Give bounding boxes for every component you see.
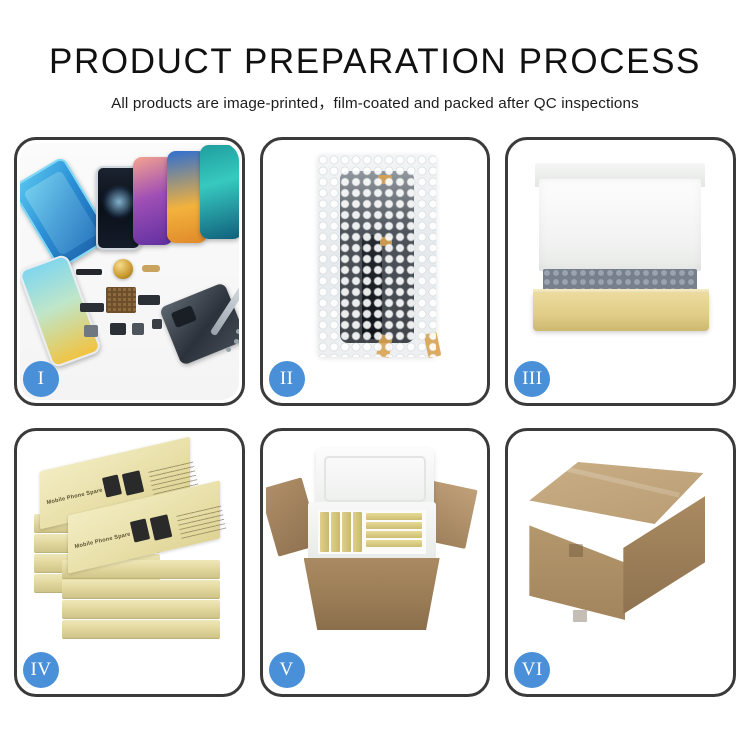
spare-part bbox=[132, 323, 144, 335]
spare-part bbox=[142, 265, 160, 272]
foam-cavity bbox=[318, 510, 426, 554]
step-badge-1: I bbox=[23, 361, 59, 397]
box-layer bbox=[62, 600, 220, 619]
step-badge-4: IV bbox=[23, 652, 59, 688]
screw bbox=[236, 329, 239, 334]
step-4-photo: Mobile Phone Spare Parts Mobile Phone Sp… bbox=[20, 434, 239, 691]
spare-part bbox=[110, 323, 126, 335]
step-card-3[interactable]: III bbox=[505, 137, 736, 406]
spare-part bbox=[84, 325, 98, 337]
step-1-photo bbox=[20, 143, 239, 400]
foam-lid bbox=[316, 448, 434, 510]
product-preparation-infographic: PRODUCT PREPARATION PROCESS All products… bbox=[0, 0, 750, 750]
spare-part bbox=[80, 303, 104, 312]
packed-box bbox=[342, 512, 351, 552]
step-card-5[interactable]: V bbox=[260, 428, 491, 697]
packed-box bbox=[366, 531, 422, 538]
spare-part bbox=[152, 319, 162, 329]
step-card-1[interactable]: I bbox=[14, 137, 245, 406]
page-title: PRODUCT PREPARATION PROCESS bbox=[0, 42, 750, 82]
chip-grid-part bbox=[106, 287, 136, 313]
packed-box bbox=[366, 540, 422, 547]
phone-back-housing bbox=[159, 282, 239, 366]
step-badge-2: II bbox=[269, 361, 305, 397]
packed-box bbox=[320, 512, 329, 552]
carton-tab bbox=[569, 544, 583, 557]
step-badge-5: V bbox=[269, 652, 305, 688]
screw bbox=[226, 347, 231, 352]
step-6-photo bbox=[511, 434, 730, 691]
bubble-wrap-bag bbox=[318, 155, 436, 357]
kraft-box-front bbox=[533, 293, 709, 331]
packed-box bbox=[366, 513, 422, 520]
carton-body bbox=[304, 558, 440, 630]
screw bbox=[234, 339, 239, 344]
carton-tab bbox=[573, 610, 587, 622]
spare-part bbox=[138, 295, 160, 305]
packed-box bbox=[353, 512, 362, 552]
header: PRODUCT PREPARATION PROCESS All products… bbox=[0, 0, 750, 113]
step-card-6[interactable]: VI bbox=[505, 428, 736, 697]
copper-coil-part bbox=[113, 259, 133, 279]
bubble-texture bbox=[318, 155, 436, 357]
phone-teal bbox=[200, 145, 239, 239]
process-steps-grid: I II bbox=[14, 137, 736, 697]
step-3-photo bbox=[511, 143, 730, 400]
step-2-photo bbox=[266, 143, 485, 400]
foam-sheet bbox=[539, 179, 701, 271]
box-layer bbox=[62, 620, 220, 639]
packed-box bbox=[331, 512, 340, 552]
box-stack: Mobile Phone Spare Parts Mobile Phone Sp… bbox=[32, 452, 232, 642]
packed-box bbox=[366, 522, 422, 529]
box-layer bbox=[62, 580, 220, 599]
step-card-2[interactable]: II bbox=[260, 137, 491, 406]
page-subtitle: All products are image-printed，film-coat… bbox=[0, 91, 750, 113]
carton-front-face bbox=[529, 510, 625, 620]
spare-part bbox=[76, 269, 102, 275]
step-5-photo bbox=[266, 434, 485, 691]
step-card-4[interactable]: Mobile Phone Spare Parts Mobile Phone Sp… bbox=[14, 428, 245, 697]
